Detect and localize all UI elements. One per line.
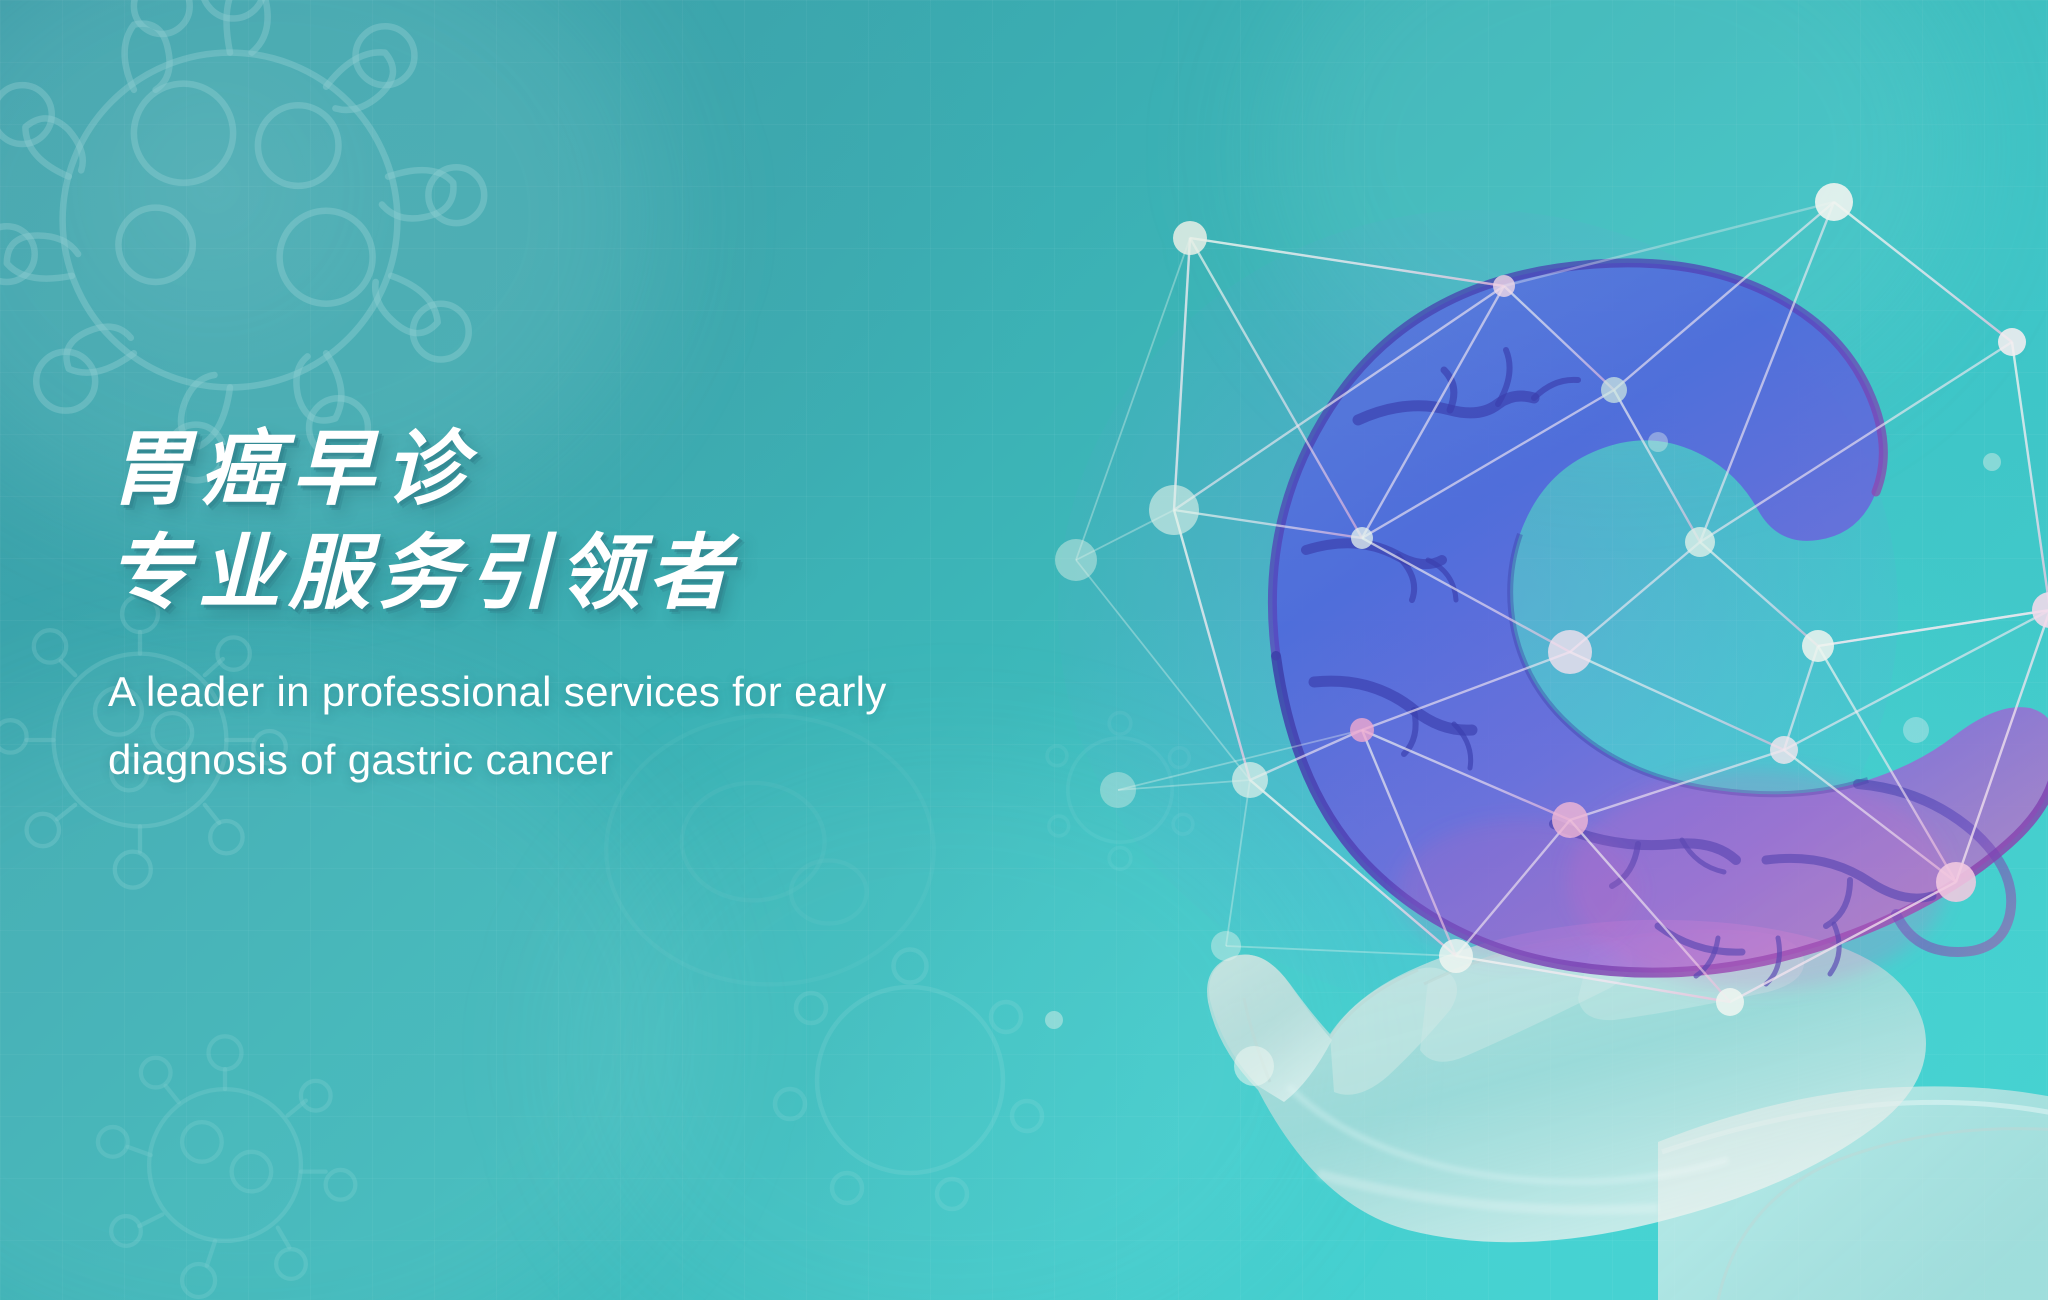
sleeve-shape [1658, 1086, 2048, 1300]
subtitle-block: A leader in professional services for ea… [108, 658, 1118, 794]
network-nodes [1045, 183, 2048, 1086]
open-hand-shape [1207, 920, 1926, 1242]
headline-line-2: 专业服务引领者 [108, 522, 1158, 626]
background-glow-top-right [1266, 0, 1966, 430]
virus-silhouette-icon-center [760, 930, 1060, 1230]
headline-line-1: 胃癌早诊 [108, 418, 1158, 522]
headline-block: 胃癌早诊 专业服务引领者 A leader in professional se… [108, 418, 1158, 794]
polygon-network-overlay [1045, 183, 2048, 1086]
subtitle-line-2: diagnosis of gastric cancer [108, 726, 1118, 794]
hero-banner: 胃癌早诊 专业服务引领者 A leader in professional se… [0, 0, 2048, 1300]
stomach-shape [1272, 263, 2048, 990]
virus-silhouette-icon-bottom-left [60, 1000, 390, 1300]
subtitle-line-1: A leader in professional services for ea… [108, 658, 1118, 726]
background-glow-center [573, 754, 1333, 1300]
